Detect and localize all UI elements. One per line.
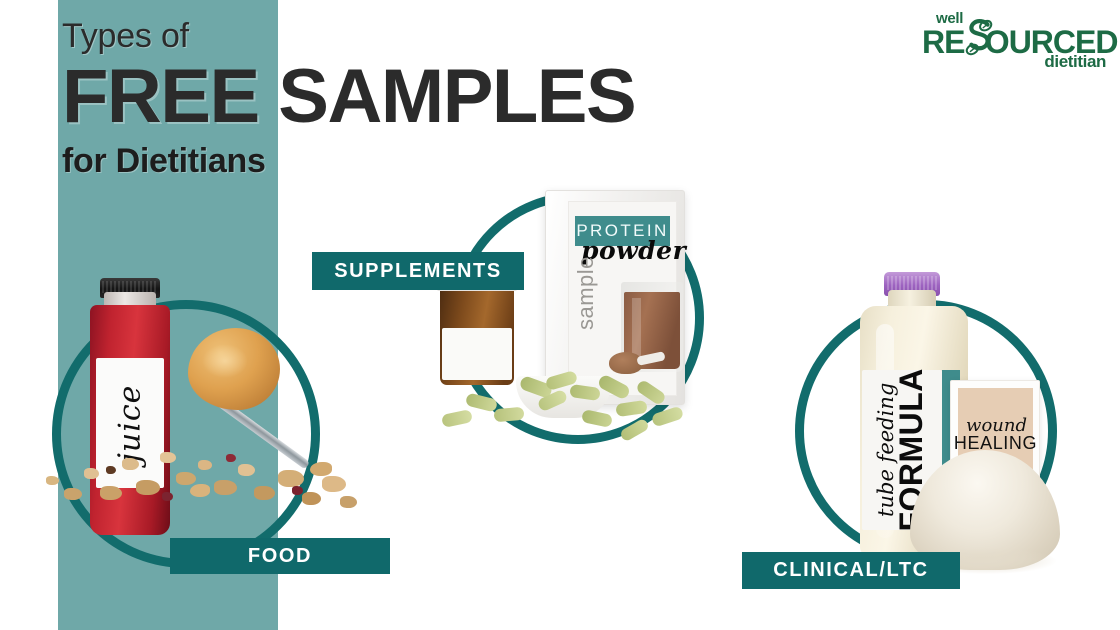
- granola-crumb: [46, 476, 59, 485]
- brand-logo[interactable]: well RESOURCED dietitian: [908, 8, 1108, 72]
- leaf-s-monogram-icon: [962, 18, 996, 58]
- green-capsule: [465, 392, 498, 412]
- category-label-supplements[interactable]: SUPPLEMENTS: [312, 252, 524, 290]
- almond-piece: [190, 484, 210, 497]
- granola-crumb: [100, 486, 122, 500]
- juice-label-text: juice: [113, 384, 148, 462]
- granola-crumb: [198, 460, 212, 470]
- almond-piece: [310, 462, 332, 476]
- supplements-product-group: PROTEIN powder sample: [420, 180, 720, 460]
- logo-prefix: RE: [922, 24, 964, 60]
- logo-word-dietitian: dietitian: [1044, 52, 1106, 72]
- pouch-side-text: sample: [573, 234, 599, 330]
- food-product-group: juice: [40, 280, 390, 580]
- granola-crumb: [160, 452, 176, 463]
- clinical-product-group: wound HEALING tube feeding FORMULA: [800, 270, 1100, 590]
- dried-cranberry: [292, 486, 303, 495]
- infographic-canvas: Types of FREE SAMPLES for Dietitians wel…: [0, 0, 1120, 630]
- green-capsule: [619, 418, 650, 443]
- category-label-supplements-text: SUPPLEMENTS: [334, 260, 502, 283]
- headline-line-3: for Dietitians: [62, 143, 762, 180]
- granola-crumb: [302, 492, 321, 505]
- page-title: Types of FREE SAMPLES for Dietitians: [62, 18, 762, 181]
- peanut-butter-scoop: [188, 328, 280, 410]
- granola-crumb: [136, 480, 160, 495]
- dried-cranberry: [162, 492, 173, 501]
- dried-cranberry: [226, 454, 236, 462]
- green-capsule: [441, 409, 473, 428]
- green-capsule: [493, 407, 524, 423]
- granola-crumb: [176, 472, 196, 485]
- category-label-clinical[interactable]: CLINICAL/LTC: [742, 552, 960, 589]
- category-label-food-text: FOOD: [248, 545, 312, 568]
- supplement-bottle-label: [442, 328, 512, 380]
- granola-crumb: [238, 464, 255, 476]
- granola-crumb: [322, 476, 346, 492]
- headline-line-2: FREE SAMPLES: [62, 57, 762, 137]
- granola-crumb: [278, 470, 304, 487]
- dried-cranberry: [106, 466, 116, 474]
- granola-crumb: [64, 488, 82, 500]
- granola-crumb: [84, 468, 99, 479]
- green-capsule: [581, 409, 613, 428]
- green-capsule: [615, 400, 648, 417]
- granola-crumb: [340, 496, 357, 508]
- category-label-food[interactable]: FOOD: [170, 538, 390, 574]
- granola-crumb: [214, 480, 237, 495]
- headline-line-1: Types of: [62, 18, 762, 55]
- category-label-clinical-text: CLINICAL/LTC: [773, 559, 928, 582]
- granola-crumb: [122, 458, 139, 470]
- green-capsule: [651, 406, 685, 428]
- granola-crumb: [254, 486, 275, 500]
